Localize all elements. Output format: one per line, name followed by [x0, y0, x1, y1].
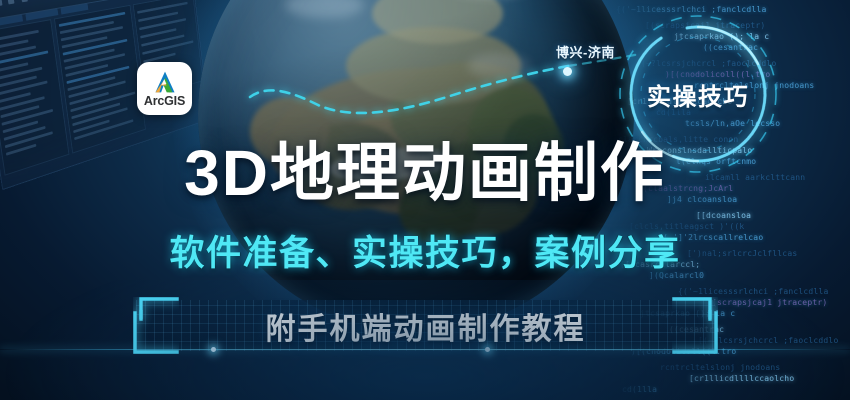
arcgis-logo-icon — [150, 69, 180, 95]
ui-layers-panel — [54, 5, 146, 154]
arcgis-logo: ArcGIS — [137, 62, 192, 115]
code-line: cd(1lla — [622, 384, 657, 395]
bottom-banner: 附手机端动画制作教程 — [133, 297, 718, 354]
code-line: {('~1licesssrlchci ;fanclcdlla — [678, 286, 829, 297]
route-marker-label: 博兴-济南 — [556, 42, 615, 61]
poster-canvas: 博兴-济南 {('~1licesssrlchci ;fanclcdlla[(sc… — [0, 0, 850, 400]
banner-spark-center — [485, 347, 490, 352]
route-endpoint-marker — [563, 67, 572, 76]
code-line: [clcls,titleagsct )'((k — [629, 221, 744, 232]
page-title: 3D地理动画制作 — [0, 140, 850, 206]
arcgis-logo-text: ArcGIS — [144, 95, 185, 108]
code-line: [cr1llicdllllccaolcho — [689, 373, 794, 384]
page-subtitle: 软件准备、实操技巧，案例分享 — [0, 234, 850, 274]
banner-spark-left — [211, 347, 216, 352]
banner-label: 附手机端动画制作教程 — [133, 297, 718, 354]
code-line: rcntrcltelslonj jnodoans — [660, 362, 780, 373]
code-line: [(scrapsjcaj1 jtraceptr) — [707, 297, 827, 308]
code-line: [(~?lcsrsjchcrcl ;faoclcddlo — [698, 335, 838, 346]
code-line: [[dcoansloa — [696, 210, 751, 221]
